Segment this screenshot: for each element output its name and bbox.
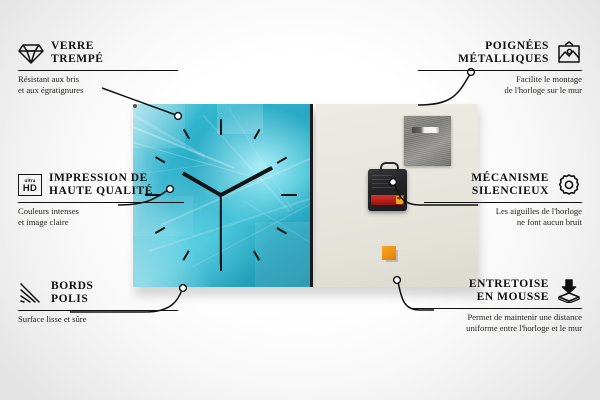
battery: [371, 195, 404, 205]
polished-edges-icon: [18, 281, 44, 305]
feature-poignees-metalliques: POIGNÉES MÉTALLIQUES Facilite le montage…: [418, 40, 582, 95]
ultra-hd-icon-main-text: HD: [23, 183, 37, 192]
feather-block: [217, 104, 263, 134]
clock-hour-marker: [155, 156, 165, 163]
picture-frame-icon: [556, 41, 582, 65]
feature-desc-line1: Permet de maintenir une distance: [412, 312, 582, 322]
feature-title: ENTRETOISE EN MOUSSE: [469, 278, 549, 304]
feature-desc-line1: Les aiguilles de l'horloge: [424, 206, 582, 216]
hanger-slot: [412, 127, 439, 133]
feature-header: ultra HD IMPRESSION DE HAUTE QUALITÉ: [18, 172, 184, 198]
mechanism-detail: [372, 183, 388, 184]
feature-title-line2: TREMPÉ: [51, 53, 104, 66]
feature-impression-haute-qualite: ultra HD IMPRESSION DE HAUTE QUALITÉ Cou…: [18, 172, 184, 227]
feature-title: BORDS POLIS: [51, 280, 93, 306]
clock-hour-marker: [277, 156, 287, 163]
feature-description: Couleurs intenses et image claire: [18, 206, 184, 227]
clock-hour-marker: [220, 119, 222, 135]
ultra-hd-icon: ultra HD: [18, 174, 42, 196]
feature-header: MÉCANISME SILENCIEUX: [424, 172, 582, 198]
feature-desc-line2: et image claire: [18, 217, 184, 227]
feature-divider: [424, 202, 582, 203]
feature-desc-line1: Facilite le montage: [418, 74, 582, 84]
feature-title-line2: POLIS: [51, 293, 93, 306]
feature-desc-line1: Couleurs intenses: [18, 206, 184, 216]
feature-title-line1: BORDS: [51, 280, 93, 293]
feature-mecanisme-silencieux: MÉCANISME SILENCIEUX Les aiguilles de l'…: [424, 172, 582, 227]
feature-divider: [18, 70, 178, 71]
feature-title-line1: VERRE: [51, 40, 104, 53]
feature-description: Facilite le montage de l'horloge sur le …: [418, 74, 582, 95]
feature-bords-polis: BORDS POLIS Surface lisse et sûre: [18, 280, 178, 325]
feature-title-line1: POIGNÉES: [458, 40, 549, 53]
feature-title-line1: ENTRETOISE: [469, 278, 549, 291]
foam-spacer: [382, 246, 396, 260]
feature-title-line1: IMPRESSION DE: [49, 172, 153, 185]
feature-description: Les aiguilles de l'horloge ne font aucun…: [424, 206, 582, 227]
clock-hour-marker: [281, 194, 297, 196]
clock-center-cap: [133, 104, 137, 108]
mechanism-hanging-loop: [380, 162, 399, 173]
mechanism-detail: [372, 187, 395, 188]
clock-hour-marker: [182, 251, 189, 261]
feature-title-line1: MÉCANISME: [471, 172, 549, 185]
mechanism-detail: [372, 175, 392, 176]
feature-desc-line1: Résistant aux bris: [18, 74, 178, 84]
feature-title-line2: MÉTALLIQUES: [458, 53, 549, 66]
mechanism-detail: [372, 179, 398, 180]
feature-description: Permet de maintenir une distance uniform…: [412, 312, 582, 333]
feature-header: POIGNÉES MÉTALLIQUES: [418, 40, 582, 66]
feature-desc-line2: de l'horloge sur le mur: [418, 85, 582, 95]
feature-desc-line2: ne font aucun bruit: [424, 217, 582, 227]
feature-title-line2: HAUTE QUALITÉ: [49, 185, 153, 198]
feature-entretoise-en-mousse: ENTRETOISE EN MOUSSE Permet de maintenir…: [412, 278, 582, 333]
feature-divider: [418, 70, 582, 71]
clock-hour-hand: [182, 171, 222, 197]
feature-title: MÉCANISME SILENCIEUX: [471, 172, 549, 198]
arrow-onto-pad-icon: [556, 279, 582, 303]
feature-description: Résistant aux bris et aux égratignures: [18, 74, 178, 95]
battery-plus-sign: [399, 196, 400, 200]
feature-desc-line2: et aux égratignures: [18, 85, 178, 95]
clock-second-hand: [220, 195, 222, 265]
feature-verre-trempe: VERRE TREMPÉ Résistant aux bris et aux é…: [18, 40, 178, 95]
feature-title: POIGNÉES MÉTALLIQUES: [458, 40, 549, 66]
feature-divider: [18, 202, 184, 203]
diamond-icon: [18, 41, 44, 65]
feature-title-line2: SILENCIEUX: [471, 185, 549, 198]
feature-title-line2: EN MOUSSE: [469, 291, 549, 304]
feature-title: IMPRESSION DE HAUTE QUALITÉ: [49, 172, 153, 198]
feature-header: ENTRETOISE EN MOUSSE: [412, 278, 582, 304]
gear-icon: [556, 173, 582, 197]
feature-title: VERRE TREMPÉ: [51, 40, 104, 66]
feature-description: Surface lisse et sûre: [18, 314, 178, 324]
feature-divider: [412, 308, 582, 309]
feature-header: BORDS POLIS: [18, 280, 178, 306]
clock-mechanism: [368, 169, 407, 211]
feature-divider: [18, 310, 178, 311]
hanger-plate: [404, 116, 451, 166]
feature-desc-line1: Surface lisse et sûre: [18, 314, 178, 324]
infographic-canvas: VERRE TREMPÉ Résistant aux bris et aux é…: [0, 0, 600, 400]
feature-desc-line2: uniforme entre l'horloge et le mur: [412, 323, 582, 333]
feature-header: VERRE TREMPÉ: [18, 40, 178, 66]
